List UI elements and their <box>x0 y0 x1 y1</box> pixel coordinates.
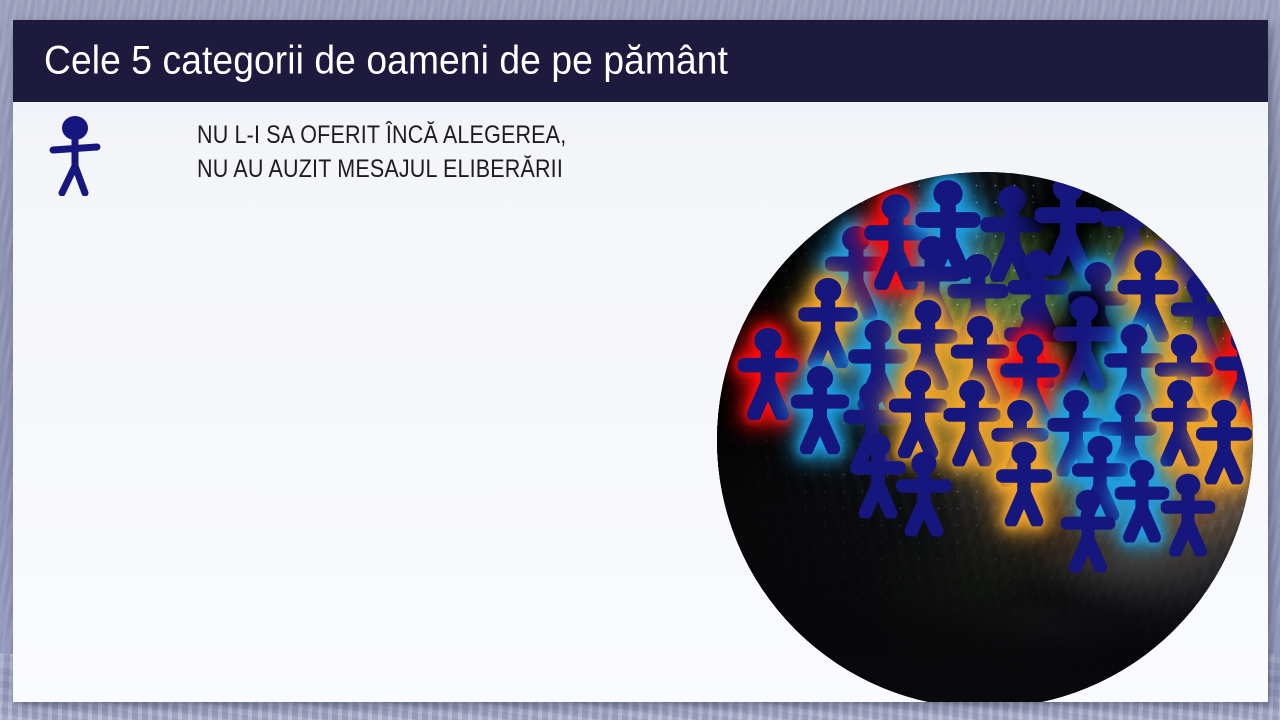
globe-person <box>791 364 849 454</box>
globe-illustration <box>705 166 1257 702</box>
globe-person <box>896 450 952 536</box>
globe-person <box>1061 488 1116 572</box>
slide-title-bar: Cele 5 categorii de oameni de pe pământ <box>13 20 1268 102</box>
globe-person <box>996 440 1052 526</box>
slide-title: Cele 5 categorii de oameni de pe pământ <box>44 39 728 84</box>
earth-globe <box>717 172 1253 702</box>
bullet-line-2: NU AU AUZIT MESAJUL ELIBERĂRII <box>197 152 566 186</box>
slide-body: NU L-I SA OFERIT ÎNCĂ ALEGEREA, NU AU AU… <box>13 102 1268 702</box>
bullet-text-block: NU L-I SA OFERIT ÎNCĂ ALEGEREA, NU AU AU… <box>197 118 566 186</box>
stick-figure-icon <box>47 114 103 196</box>
globe-person <box>738 326 799 420</box>
presentation-slide: Cele 5 categorii de oameni de pe pământ … <box>13 20 1268 702</box>
globe-person <box>1161 472 1216 556</box>
bullet-line-1: NU L-I SA OFERIT ÎNCĂ ALEGEREA, <box>197 118 566 152</box>
